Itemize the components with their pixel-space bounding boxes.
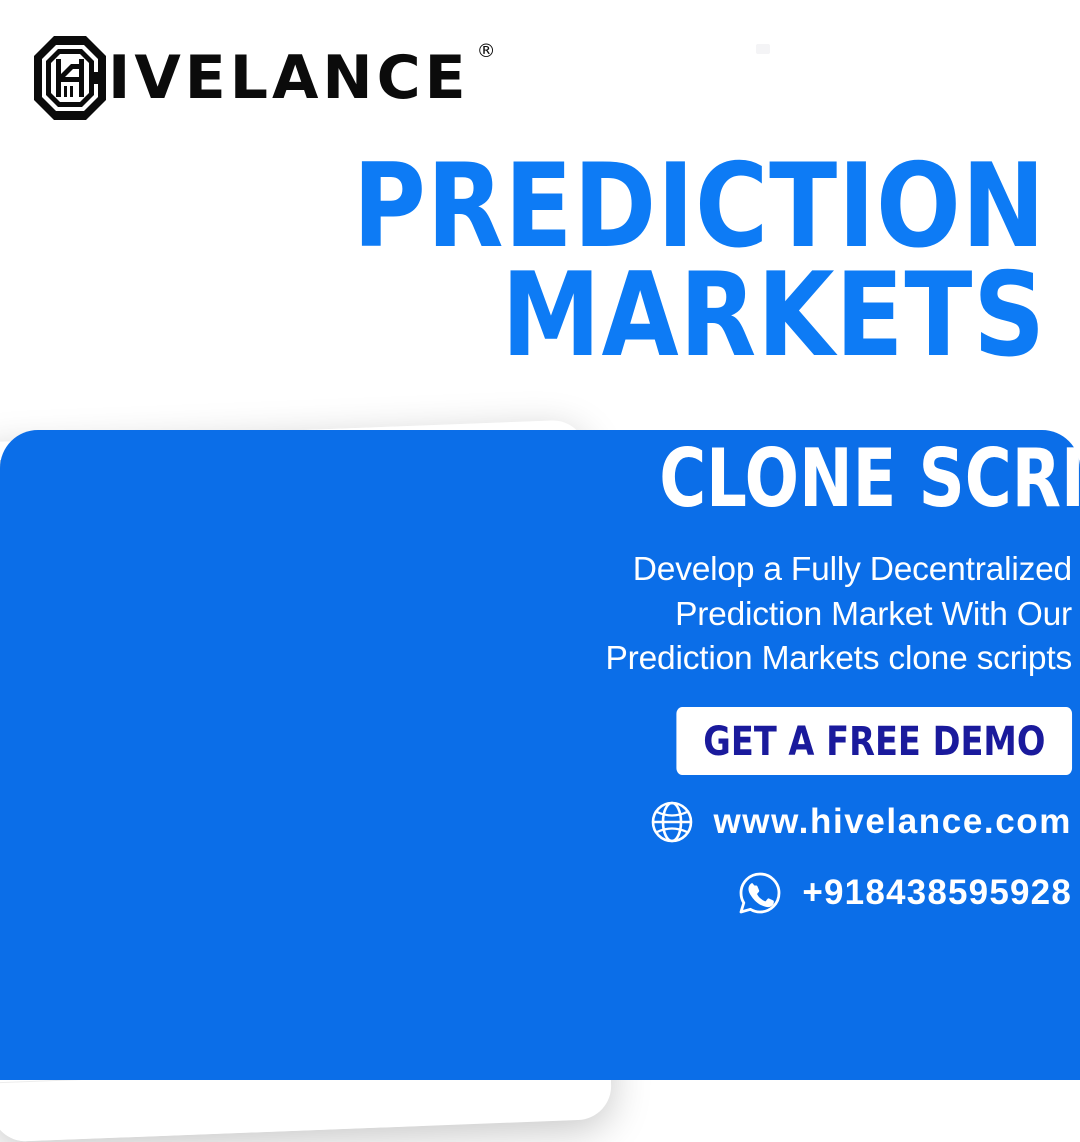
page-title: PREDICTION MARKETS	[332, 152, 1046, 370]
decorative-speck	[756, 44, 770, 54]
website-url: www.hivelance.com	[713, 802, 1072, 842]
website-row[interactable]: www.hivelance.com	[556, 799, 1072, 845]
phone-number: +918438595928	[802, 873, 1072, 913]
brand-wordmark: IVELANCE ®	[108, 48, 470, 108]
brand-logo: IVELANCE ®	[24, 30, 470, 126]
globe-icon	[649, 799, 695, 845]
brand-wordmark-text: IVELANCE	[108, 43, 470, 113]
phone-row[interactable]: +918438595928	[556, 869, 1072, 917]
promo-subtitle: Develop a Fully Decentralized Prediction…	[556, 548, 1072, 681]
whatsapp-icon	[736, 869, 784, 917]
headline-line-1: PREDICTION	[332, 152, 1046, 261]
get-free-demo-button[interactable]: GET A FREE DEMO	[676, 707, 1072, 775]
hivelance-hexagon-logo-icon	[24, 34, 108, 122]
headline-line-2: MARKETS	[332, 261, 1046, 370]
promo-content: CLONE SCRIPT Develop a Fully Decentraliz…	[556, 440, 1072, 917]
registered-trademark-icon: ®	[477, 42, 496, 61]
promo-title: CLONE SCRIPT	[659, 440, 1072, 518]
